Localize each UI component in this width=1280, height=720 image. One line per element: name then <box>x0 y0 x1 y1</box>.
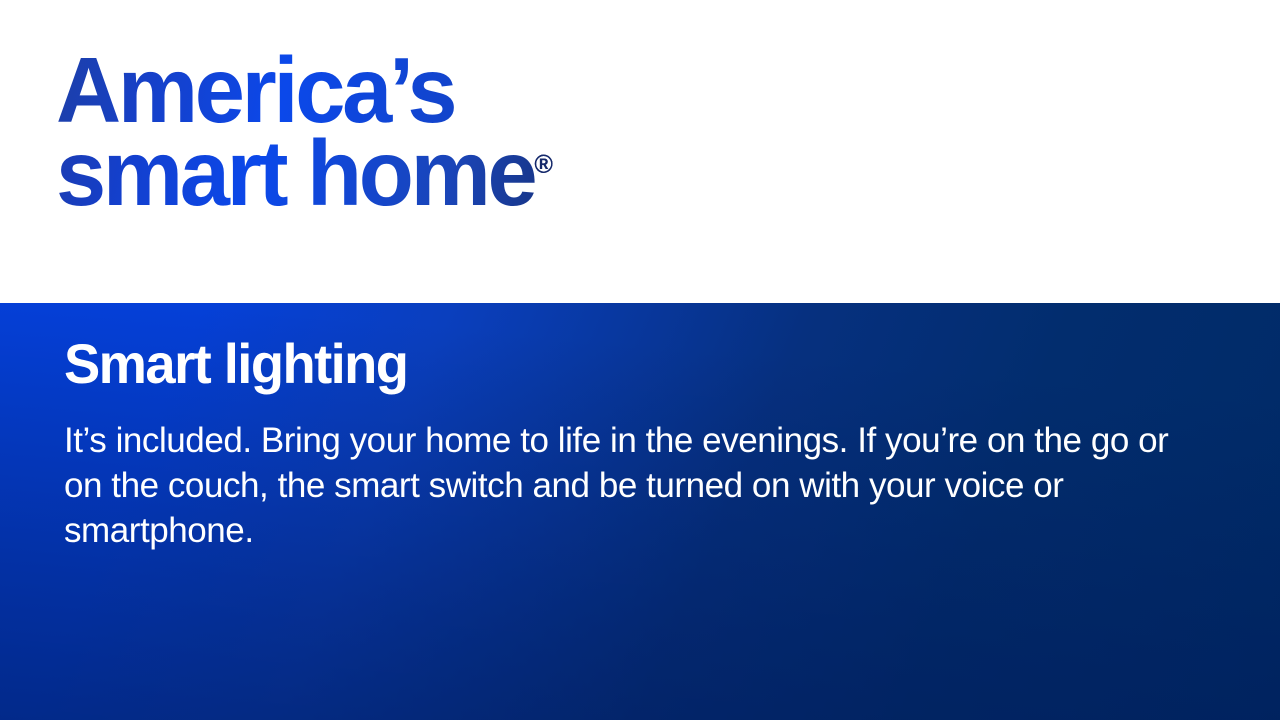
panel-content: Smart lighting It’s included. Bring your… <box>64 335 1184 553</box>
blue-content-panel: Smart lighting It’s included. Bring your… <box>0 303 1280 720</box>
americas-smart-home-logo: America’s smart home® <box>56 46 756 219</box>
brand-band: America’s smart home® <box>0 0 1280 303</box>
body-paragraph: It’s included. Bring your home to life i… <box>64 418 1169 553</box>
registered-trademark-icon: ® <box>534 149 553 179</box>
marketing-slide: America’s smart home® Smart lighting It’… <box>0 0 1280 720</box>
brand-line-smart-home: smart home® <box>56 129 735 218</box>
brand-line-smart-home-text: smart home <box>56 121 534 225</box>
page-title: Smart lighting <box>64 335 1150 392</box>
